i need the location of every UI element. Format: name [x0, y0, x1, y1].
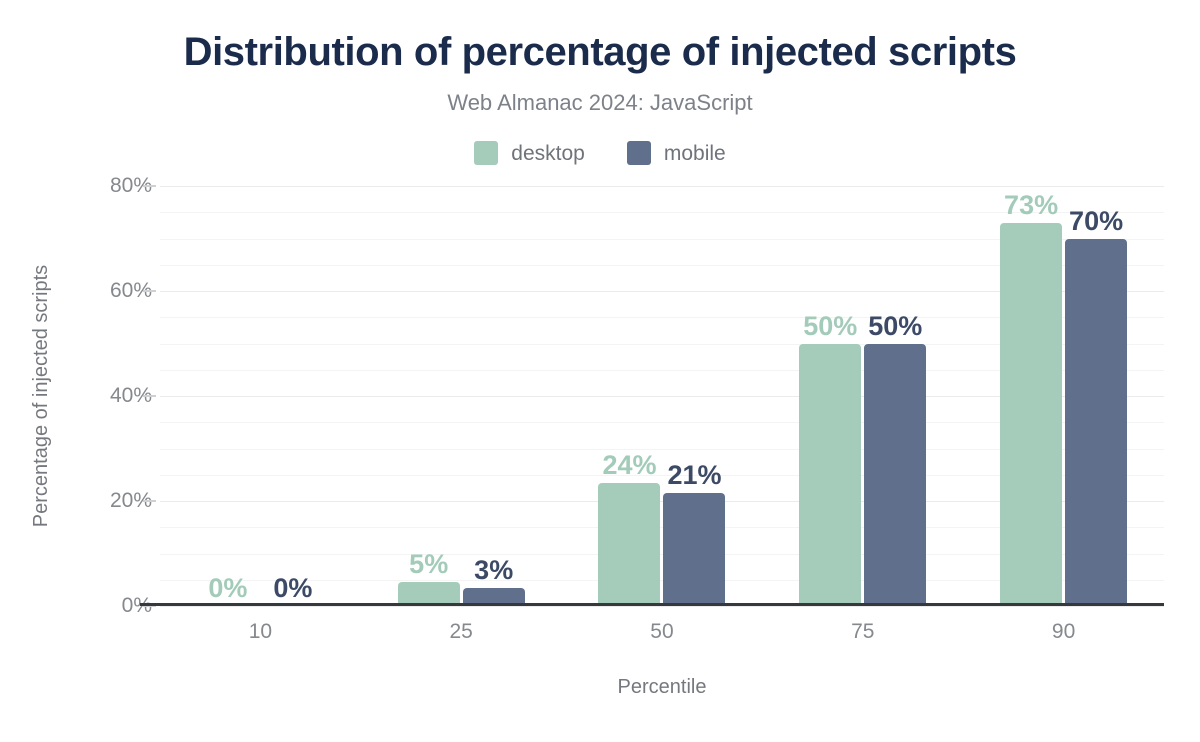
y-tick-label: 80% — [0, 174, 152, 198]
bar-value-label: 24% — [602, 452, 656, 479]
y-tick-mark — [143, 185, 156, 187]
x-tick-label: 10 — [249, 620, 272, 644]
bar-mobile[interactable]: 70% — [1065, 239, 1127, 607]
y-tick-mark — [143, 500, 156, 502]
x-axis-title: Percentile — [160, 676, 1164, 699]
bar-pair: 73%70% — [1000, 186, 1128, 606]
bar-value-label: 0% — [273, 575, 312, 602]
bar-group: 73%70%90 — [963, 186, 1164, 606]
legend-item-mobile[interactable]: mobile — [627, 141, 726, 165]
x-tick-label: 50 — [650, 620, 673, 644]
bar-pair: 24%21% — [598, 186, 726, 606]
y-tick-label: 40% — [0, 384, 152, 408]
legend-swatch-mobile-icon — [627, 141, 651, 165]
y-tick-label: 20% — [0, 489, 152, 513]
bar-value-label: 50% — [803, 313, 857, 340]
bar-value-label: 3% — [474, 557, 513, 584]
x-tick-label: 75 — [851, 620, 874, 644]
bar-chart-figure: Distribution of percentage of injected s… — [0, 0, 1200, 742]
y-tick-mark — [143, 395, 156, 397]
chart-subtitle: Web Almanac 2024: JavaScript — [0, 90, 1200, 116]
legend-swatch-desktop-icon — [474, 141, 498, 165]
bar-desktop[interactable]: 24% — [598, 483, 660, 606]
bar-value-label: 73% — [1004, 192, 1058, 219]
chart-title: Distribution of percentage of injected s… — [0, 30, 1200, 75]
gridline-major — [160, 606, 1164, 607]
x-tick-label: 25 — [450, 620, 473, 644]
y-tick-label: 0% — [0, 594, 152, 618]
y-tick-label: 60% — [0, 279, 152, 303]
bar-value-label: 5% — [409, 551, 448, 578]
bar-value-label: 70% — [1069, 208, 1123, 235]
bar-mobile[interactable]: 21% — [663, 493, 725, 606]
legend-label-mobile: mobile — [664, 143, 726, 164]
bar-desktop[interactable]: 73% — [1000, 223, 1062, 606]
bar-pair: 0%0% — [196, 186, 324, 606]
bar-value-label: 50% — [868, 313, 922, 340]
chart-legend: desktop mobile — [0, 141, 1200, 165]
bar-group: 50%50%75 — [762, 186, 963, 606]
plot-area: 0%20%40%60%80% 0%0%105%3%2524%21%5050%50… — [160, 186, 1164, 606]
bar-group: 24%21%50 — [562, 186, 763, 606]
x-tick-label: 90 — [1052, 620, 1075, 644]
bar-groups: 0%0%105%3%2524%21%5050%50%7573%70%90 — [160, 186, 1164, 606]
legend-item-desktop[interactable]: desktop — [474, 141, 585, 165]
bar-group: 0%0%10 — [160, 186, 361, 606]
bar-mobile[interactable]: 50% — [864, 344, 926, 607]
legend-label-desktop: desktop — [511, 143, 585, 164]
x-axis-baseline — [140, 603, 1164, 606]
bar-value-label: 0% — [208, 575, 247, 602]
y-tick-mark — [143, 290, 156, 292]
bar-desktop[interactable]: 50% — [799, 344, 861, 607]
bar-group: 5%3%25 — [361, 186, 562, 606]
bar-pair: 5%3% — [397, 186, 525, 606]
bar-value-label: 21% — [667, 462, 721, 489]
bar-pair: 50%50% — [799, 186, 927, 606]
